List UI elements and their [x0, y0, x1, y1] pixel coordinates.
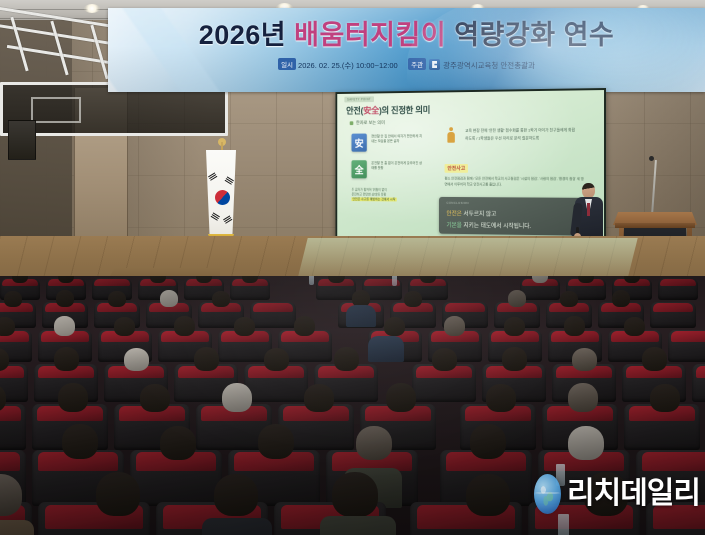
- attendee-head: [160, 290, 178, 307]
- attendee-head: [54, 347, 79, 371]
- attendee-head: [432, 348, 457, 371]
- attendee-head: [642, 347, 667, 371]
- attendee-head: [56, 290, 74, 307]
- attendee-head: [222, 383, 252, 412]
- attendee-head: [108, 291, 126, 307]
- education-office-logo-icon: [429, 59, 440, 70]
- callout-line-1: 안전은 서두르지 않고: [446, 209, 496, 218]
- slide-title: 안전(安全)의 진정한 의미: [346, 103, 430, 116]
- presenter-tie: [587, 203, 590, 216]
- banner-host-chip: 주관: [408, 58, 426, 70]
- attendee-head: [502, 347, 527, 371]
- attendee-head: [264, 348, 289, 371]
- banner-title-tail: 역량강화 연수: [454, 20, 614, 50]
- attendee-head: [96, 472, 140, 516]
- slide-footnote: 두 글자가 합쳐져 '위험이 없이 온전하고 편안한 상태'를 뜻함 안전은 사…: [352, 188, 423, 203]
- slide-heading-2: 안전사고: [445, 164, 468, 173]
- attendee-head: [504, 317, 525, 336]
- banner-title-year: 2026년: [199, 20, 286, 50]
- slide-right-text: 교육 현장 전체 '안전 생활' 점수화를 통한 1학기 아이가 친구들에게 화…: [465, 126, 578, 142]
- attendee-head: [466, 474, 510, 516]
- attendee-head: [212, 291, 230, 307]
- slide-subhead: 한자로 보는 의미: [350, 120, 385, 126]
- trigram-icon: [210, 212, 220, 221]
- photo-scene: 2026년 배움터지킴이 역량강화 연수 일시2026. 02. 25.(수) …: [0, 0, 705, 535]
- auditorium-seat: [668, 330, 705, 362]
- attendee-head: [444, 316, 465, 336]
- attendee-head: [54, 316, 75, 336]
- projection-screen: SAFETY POINT 안전(安全)의 진정한 의미 한자로 보는 의미 安 …: [335, 88, 606, 242]
- presenter-head: [582, 183, 595, 198]
- trigram-icon: [223, 215, 233, 224]
- banner-date-text: 2026. 02. 25.(수) 10:00~12:00: [298, 61, 398, 70]
- attendee-head: [404, 291, 422, 307]
- attendee-head: [58, 383, 88, 412]
- wall-speaker: [8, 120, 36, 160]
- attendee-body: [368, 336, 404, 362]
- watermark: 리치데일리: [534, 470, 700, 518]
- auditorium-seat: [650, 302, 696, 328]
- hanja-card-jeon: 全: [352, 160, 367, 178]
- attendee-head: [650, 384, 680, 412]
- bullet-icon: [350, 121, 354, 125]
- taeguk-symbol-icon: [212, 187, 232, 207]
- watermark-text: 리치데일리: [567, 479, 700, 509]
- attendee-head: [62, 424, 98, 459]
- attendee-head: [0, 317, 15, 336]
- attendee-head: [564, 316, 585, 336]
- attendee-head: [486, 384, 516, 412]
- attendee-head: [160, 426, 196, 460]
- attendee-body: [346, 305, 376, 327]
- banner-title: 2026년 배움터지킴이 역량강화 연수: [108, 22, 705, 49]
- attendee-body: [0, 520, 34, 535]
- event-banner: 2026년 배움터지킴이 역량강화 연수 일시2026. 02. 25.(수) …: [108, 8, 705, 92]
- hanja-card-an: 安: [352, 134, 367, 152]
- taegukgi-flag: [206, 150, 236, 236]
- slide-footnote-highlight: 안전은 사고를 예방하는 것에서 시작: [352, 198, 397, 202]
- attendee-head: [214, 474, 258, 516]
- globe-icon: [534, 474, 561, 514]
- callout-tag: CONCLUSION: [446, 201, 468, 205]
- attendee-head: [384, 317, 405, 336]
- attendee-head: [386, 383, 416, 412]
- attendee-head: [560, 291, 578, 307]
- attendee-head: [124, 348, 149, 371]
- slide-section-tag: SAFETY POINT: [344, 96, 373, 102]
- attendee-head: [258, 424, 294, 459]
- attendee-head: [304, 384, 334, 412]
- attendee-head: [568, 426, 604, 460]
- attendee-head: [356, 426, 392, 460]
- attendee-head: [568, 383, 598, 412]
- attendee-head: [114, 317, 135, 336]
- banner-title-highlight: 배움터지킴이: [294, 20, 446, 50]
- water-bottle: [309, 276, 314, 285]
- attendee-head: [334, 347, 359, 371]
- attendee-head: [4, 291, 22, 307]
- banner-date-chip: 일시: [278, 58, 296, 70]
- banner-host-text: 광주광역시교육청 안전총괄과: [443, 61, 535, 70]
- auditorium-seat: [250, 302, 296, 328]
- hanja-note-jeon: 온전할 전 흠 없이 온전하게 갖추어진 상태를 뜻함: [371, 161, 424, 171]
- person-pictogram-icon: [447, 127, 454, 143]
- attendee-head: [612, 290, 630, 307]
- attendee-body: [320, 516, 396, 535]
- water-bottle: [392, 276, 397, 286]
- attendee-head: [194, 347, 219, 371]
- attendee-head: [624, 317, 645, 336]
- attendee-head: [294, 316, 315, 336]
- trigram-icon: [208, 172, 218, 181]
- attendee-head: [174, 316, 195, 336]
- auditorium-seat: [692, 364, 705, 402]
- attendee-body: [202, 518, 272, 535]
- callout-line-2: 기본을 지키는 태도에서 시작됩니다.: [446, 220, 531, 230]
- attendee-head: [572, 348, 597, 371]
- hanja-note-an: 편안할 안 집 안에서 여자가 편안하게 지내는 모습을 본뜬 글자: [371, 134, 424, 144]
- attendee-head: [332, 472, 378, 517]
- trigram-icon: [224, 176, 234, 185]
- banner-subtitle: 일시2026. 02. 25.(수) 10:00~12:00 주관광주광역시교육…: [108, 58, 705, 71]
- attendee-head: [508, 290, 526, 307]
- attendee-head: [234, 317, 255, 336]
- attendee-head: [470, 424, 506, 459]
- attendee-head: [140, 384, 170, 412]
- slide-body-2: 평소 안전점검과 함께 / 모든 안전에서 학교의 사고점검은 '시설의 점검'…: [445, 176, 585, 189]
- auditorium-seat: [0, 404, 26, 450]
- auditorium-seat: [658, 278, 698, 300]
